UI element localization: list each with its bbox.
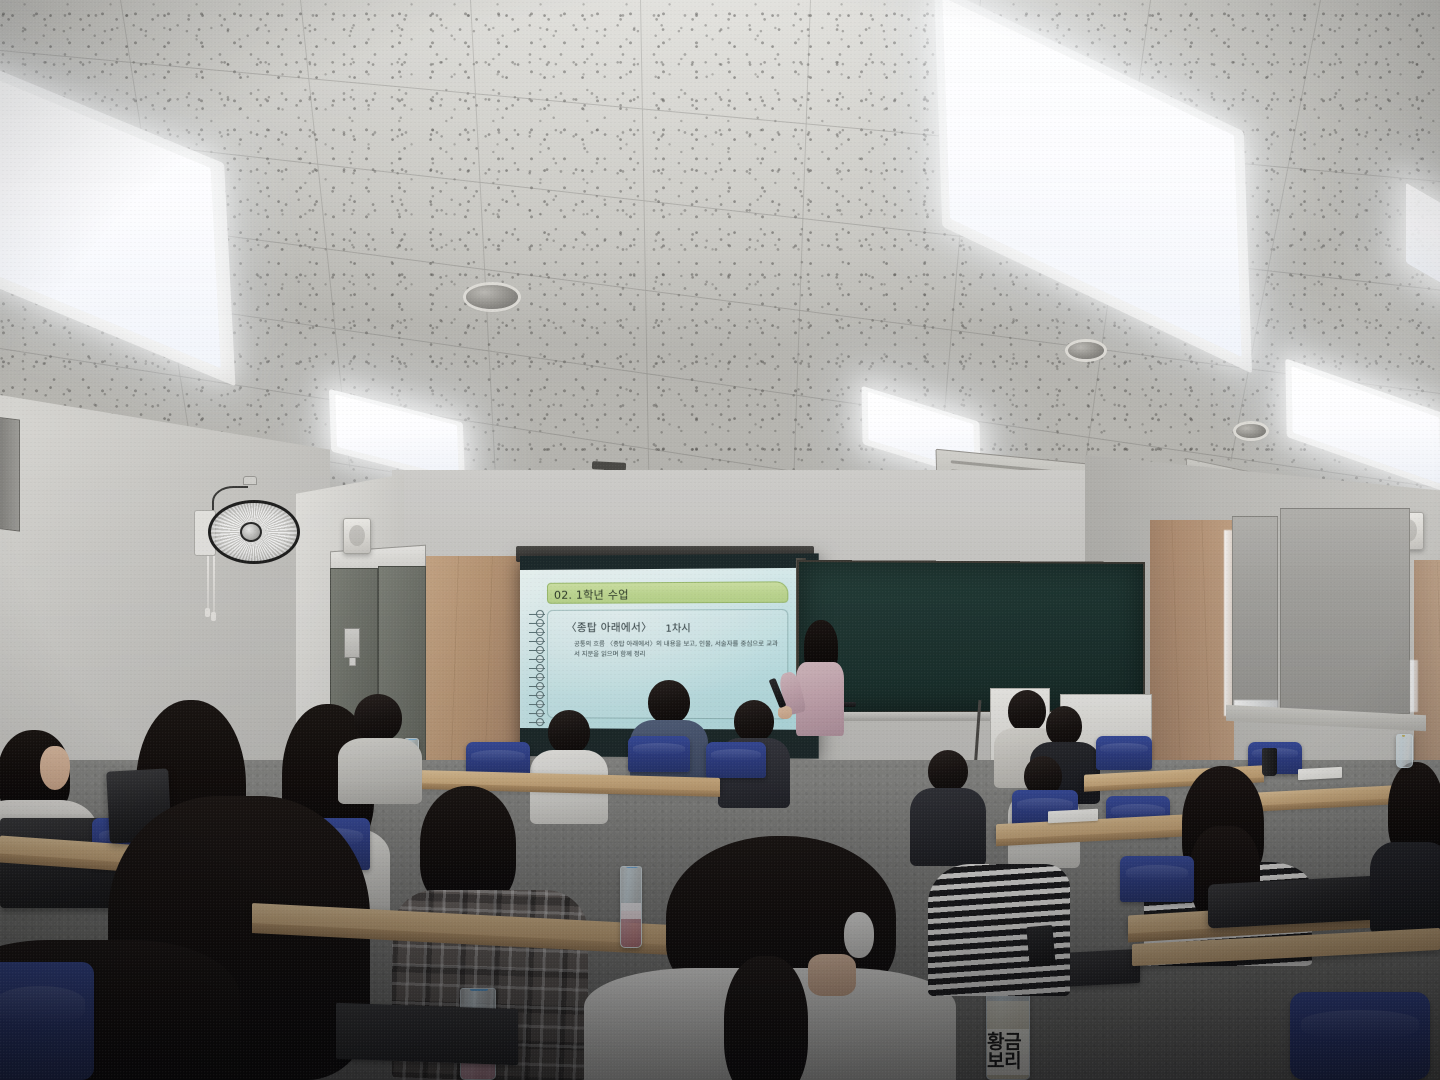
- fan-pull-cord-2[interactable]: [213, 556, 215, 614]
- fan-pull-cord-1[interactable]: [207, 556, 209, 610]
- window-daylight-edge-2: [1410, 660, 1418, 712]
- ceiling-speaker-icon: [466, 285, 518, 309]
- fan-hub: [240, 522, 262, 542]
- smoke-detector-icon: [1068, 342, 1104, 359]
- chair-far-right-1[interactable]: [1096, 736, 1152, 770]
- paper-sheet-1: [1298, 767, 1342, 780]
- fan-cord-weight-2: [211, 612, 216, 621]
- slide-heading: 〈종탑 아래에서〉: [566, 620, 652, 635]
- fan-ceiling-hook: [243, 476, 257, 485]
- chair-striped-right[interactable]: [1120, 856, 1194, 902]
- wall-speaker-left-icon: [343, 518, 371, 554]
- window-blind-2[interactable]: [1280, 508, 1410, 714]
- slide-title: 02. 1학년 수업: [554, 586, 629, 602]
- ceiling-speaker-2-icon: [1236, 424, 1266, 438]
- student-face: [40, 746, 70, 790]
- bottle-label: [621, 903, 641, 919]
- chair-mid-3[interactable]: [706, 742, 766, 778]
- foreground-neck: [808, 954, 856, 996]
- face-mask: [844, 912, 874, 958]
- chair-mid-2[interactable]: [628, 736, 690, 772]
- laptop[interactable]: [336, 1003, 518, 1065]
- drink-cup-right: [1396, 734, 1413, 768]
- bottle-label-barley: 황금보리: [987, 1029, 1029, 1075]
- door-window: [344, 628, 360, 658]
- classroom-photo: 02. 1학년 수업 〈종탑 아래에서〉 1차시 공통의 흐름 〈종탑 아래에서…: [0, 0, 1440, 1080]
- left-wall-vent: [0, 416, 20, 531]
- foreground-ponytail: [724, 956, 808, 1080]
- water-bottle-pink: [620, 866, 642, 948]
- chair-foreground-right[interactable]: [1290, 992, 1430, 1080]
- fan-cord-weight-1: [205, 608, 210, 617]
- window-blind-1[interactable]: [1232, 516, 1278, 712]
- slide-body-text: 공통의 흐름 〈종탑 아래에서〉의 내용을 보고, 인물, 서술자를 중심으로 …: [574, 640, 783, 660]
- chalkboard: [797, 560, 1145, 714]
- bottle-cap: [626, 866, 638, 868]
- student-hair: [420, 786, 516, 906]
- slide-title-bar: 02. 1학년 수업: [547, 581, 788, 604]
- slide-session-label: 1차시: [665, 619, 690, 634]
- wood-wall-panel-right: [1150, 520, 1234, 770]
- smartphone[interactable]: [1026, 925, 1055, 967]
- bottle-cap: [470, 988, 488, 991]
- chair-foreground-left[interactable]: [0, 962, 94, 1080]
- tumbler-cup: [1262, 748, 1277, 776]
- pencil-case-black: [1208, 875, 1380, 928]
